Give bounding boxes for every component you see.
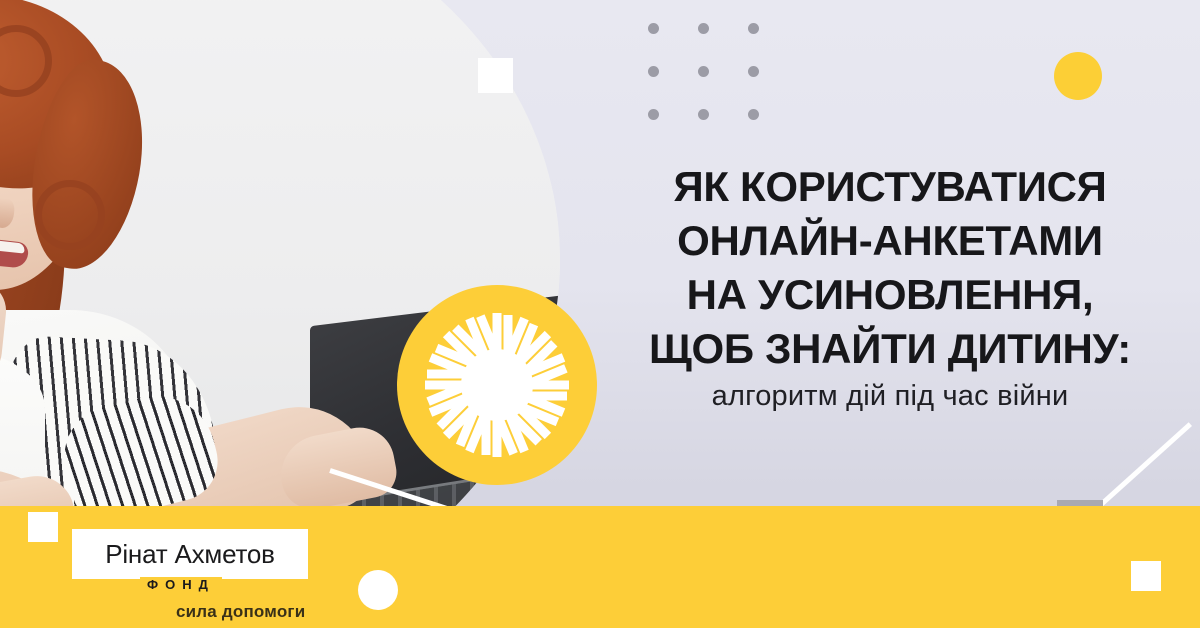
grid-dot (648, 109, 659, 120)
subtitle: алгоритм дій під час війни (600, 380, 1180, 413)
logo-name: Рінат Ахметов (77, 534, 303, 574)
grid-dot (698, 23, 709, 34)
poster-canvas: ЯК КОРИСТУВАТИСЯ ОНЛАЙН-АНКЕТАМИ НА УСИН… (0, 0, 1200, 628)
white-circle-band-decoration (358, 570, 398, 610)
white-diagonal-line-right (1088, 422, 1192, 516)
white-square-bottom-left-decoration (28, 512, 58, 542)
white-square-top-decoration (478, 58, 513, 93)
white-square-bottom-right-decoration (1131, 561, 1161, 591)
foundation-logo[interactable]: Рінат Ахметов ФОНД сила допомоги (72, 529, 312, 619)
headline-line-3: НА УСИНОВЛЕННЯ, (600, 268, 1180, 322)
grid-dot (748, 23, 759, 34)
headline-line-2: ОНЛАЙН-АНКЕТАМИ (600, 214, 1180, 268)
grid-dot (698, 66, 709, 77)
grid-dot (648, 23, 659, 34)
grid-dot (698, 109, 709, 120)
headline-line-4: ЩОБ ЗНАЙТИ ДИТИНУ: (600, 322, 1180, 376)
dot-grid-decoration (648, 23, 770, 129)
logo-tagline: сила допомоги (176, 602, 305, 622)
sun-rays-emblem-icon (397, 285, 597, 485)
headline: ЯК КОРИСТУВАТИСЯ ОНЛАЙН-АНКЕТАМИ НА УСИН… (600, 160, 1180, 376)
grid-dot (648, 66, 659, 77)
yellow-circle-top-right-decoration (1054, 52, 1102, 100)
grid-dot (748, 109, 759, 120)
headline-line-1: ЯК КОРИСТУВАТИСЯ (600, 160, 1180, 214)
logo-fond-label: ФОНД (140, 577, 222, 592)
hair-curl (35, 180, 105, 250)
grid-dot (748, 66, 759, 77)
